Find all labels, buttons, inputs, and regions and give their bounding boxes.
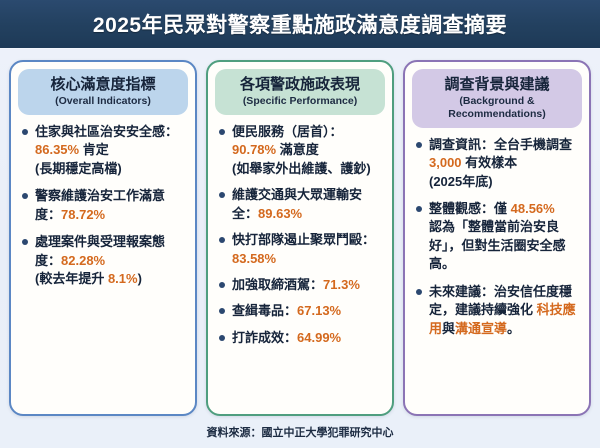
card-header-background-recommendations: 調查背景與建議(Background & Recommendations) (412, 69, 582, 128)
bullet-list: 住家與社區治安安全感：86.35% 肯定(長期穩定高檔)警察維護治安工作滿意度：… (18, 121, 188, 408)
card-overall-indicators: 核心滿意度指標(Overall Indicators)住家與社區治安安全感：86… (9, 60, 197, 416)
stat-value: 8.1% (108, 271, 138, 286)
stat-value: 溝通宣導 (455, 321, 507, 336)
bullet-list: 便民服務（居首）：90.78% 滿意度(如舉家外出維護、護鈔)維護交通與大眾運輸… (215, 121, 385, 408)
card-title-en: (Overall Indicators) (22, 95, 184, 108)
bullet-text: 住家與社區治安安全感： (35, 124, 178, 139)
bullet-list: 調查資訊：全台手機調查 3,000 有效樣本(2025年底)整體觀感：僅 48.… (412, 134, 582, 408)
bullet-text: 查緝毒品： (232, 303, 297, 318)
stat-value: 82.28% (61, 253, 105, 268)
card-header-specific-performance: 各項警政施政表現(Specific Performance) (215, 69, 385, 115)
bullet-text: ) (138, 271, 142, 286)
bullet-text: 快打部隊遏止聚眾鬥毆： (232, 232, 375, 247)
stat-value: 86.35% (35, 142, 79, 157)
bullet-text: 滿意度 (276, 142, 319, 157)
stat-value: 78.72% (61, 207, 105, 222)
stat-value: 90.78% (232, 142, 276, 157)
bullet-text: 便民服務（居首）： (232, 124, 343, 139)
card-title-zh: 核心滿意度指標 (22, 76, 184, 94)
list-item: 未來建議：治安信任度穩定，建議持續強化 科技應用與溝通宣導。 (415, 283, 580, 338)
bullet-text: 調查資訊：全台手機調查 (429, 137, 572, 152)
stat-value: 83.58% (232, 251, 276, 266)
card-background-recommendations: 調查背景與建議(Background & Recommendations)調查資… (403, 60, 591, 416)
card-title-zh: 調查背景與建議 (416, 76, 578, 94)
card-header-overall-indicators: 核心滿意度指標(Overall Indicators) (18, 69, 188, 115)
list-item: 查緝毒品：67.13% (218, 302, 383, 320)
stat-value: 71.3% (323, 277, 360, 292)
bullet-text: 整體觀感：僅 (429, 201, 511, 216)
stat-value: 3,000 (429, 155, 462, 170)
list-item: 住家與社區治安安全感：86.35% 肯定(長期穩定高檔) (21, 123, 186, 178)
list-item: 打詐成效：64.99% (218, 329, 383, 347)
bullet-text: 打詐成效： (232, 330, 297, 345)
page-title: 2025年民眾對警察重點施政滿意度調查摘要 (93, 9, 507, 39)
list-item: 處理案件與受理報案態度：82.28%(較去年提升 8.1%) (21, 233, 186, 288)
stat-value: 64.99% (297, 330, 341, 345)
bullet-text: 認為「整體當前治安良好」，但對生活圈安全感高。 (429, 219, 566, 271)
bullet-text: 與 (442, 321, 455, 336)
list-item: 警察維護治安工作滿意度：78.72% (21, 187, 186, 224)
list-item: 加強取締酒駕：71.3% (218, 276, 383, 294)
bullet-text: 加強取締酒駕： (232, 277, 323, 292)
list-item: 調查資訊：全台手機調查 3,000 有效樣本(2025年底) (415, 136, 580, 191)
cards-row: 核心滿意度指標(Overall Indicators)住家與社區治安安全感：86… (0, 60, 600, 416)
bullet-text: (2025年底) (429, 174, 493, 189)
stat-value: 48.56% (511, 201, 555, 216)
bullet-text: 肯定 (79, 142, 109, 157)
title-bar: 2025年民眾對警察重點施政滿意度調查摘要 (0, 0, 600, 48)
card-title-zh: 各項警政施政表現 (219, 76, 381, 94)
source-footer: 資料來源：國立中正大學犯罪研究中心 (0, 424, 600, 440)
list-item: 整體觀感：僅 48.56%認為「整體當前治安良好」，但對生活圈安全感高。 (415, 200, 580, 274)
bullet-text: (較去年提升 (35, 271, 108, 286)
card-title-en: (Background & Recommendations) (416, 95, 578, 121)
bullet-text: 。 (507, 321, 520, 336)
bullet-text: 有效樣本 (462, 155, 518, 170)
bullet-text: (如舉家外出維護、護鈔) (232, 161, 371, 176)
card-specific-performance: 各項警政施政表現(Specific Performance)便民服務（居首）：9… (206, 60, 394, 416)
list-item: 便民服務（居首）：90.78% 滿意度(如舉家外出維護、護鈔) (218, 123, 383, 178)
list-item: 快打部隊遏止聚眾鬥毆：83.58% (218, 231, 383, 268)
stat-value: 89.63% (258, 206, 302, 221)
bullet-text: (長期穩定高檔) (35, 161, 122, 176)
card-title-en: (Specific Performance) (219, 95, 381, 108)
stat-value: 67.13% (297, 303, 341, 318)
list-item: 維護交通與大眾運輸安全：89.63% (218, 186, 383, 223)
